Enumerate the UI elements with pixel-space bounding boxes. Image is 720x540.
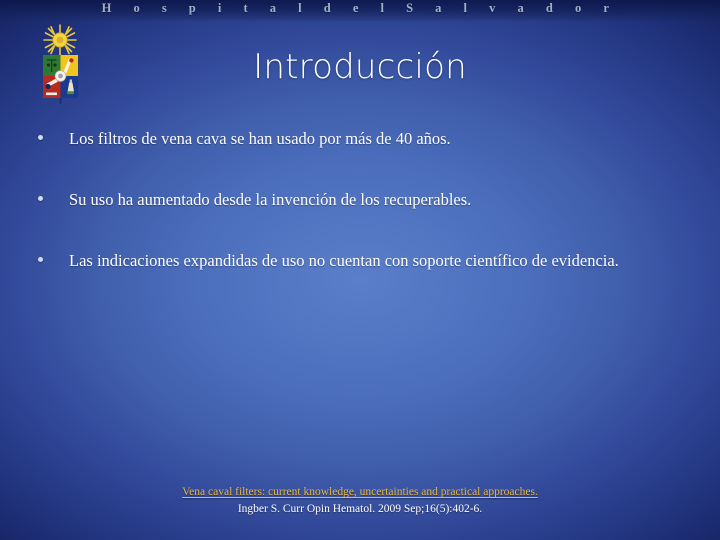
bullet-dot-icon bbox=[38, 126, 69, 140]
presentation-slide: H o s p i t a l d e l S a l v a d o r bbox=[0, 0, 720, 540]
list-item-text: Las indicaciones expandidas de uso no cu… bbox=[69, 248, 686, 273]
citation-reference: Ingber S. Curr Opin Hematol. 2009 Sep;16… bbox=[0, 500, 720, 518]
citation-link[interactable]: Vena caval filters: current knowledge, u… bbox=[0, 484, 720, 500]
list-item-text: Su uso ha aumentado desde la invención d… bbox=[69, 187, 686, 212]
footer-citation: Vena caval filters: current knowledge, u… bbox=[0, 484, 720, 518]
bullet-list: Los filtros de vena cava se han usado po… bbox=[38, 126, 686, 273]
list-item: Las indicaciones expandidas de uso no cu… bbox=[38, 248, 686, 273]
bullet-dot-icon bbox=[38, 248, 69, 262]
institution-name: H o s p i t a l d e l S a l v a d o r bbox=[0, 1, 720, 16]
bullet-dot-icon bbox=[38, 187, 69, 201]
page-title: Introducción bbox=[110, 46, 610, 88]
list-item: Su uso ha aumentado desde la invención d… bbox=[38, 187, 686, 212]
hospital-logo-icon bbox=[33, 24, 87, 108]
list-item: Los filtros de vena cava se han usado po… bbox=[38, 126, 686, 151]
list-item-text: Los filtros de vena cava se han usado po… bbox=[69, 126, 686, 151]
